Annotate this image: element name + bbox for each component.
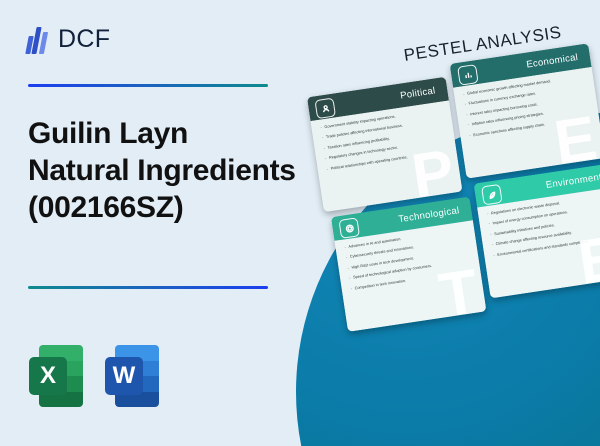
download-icons: X W — [29, 345, 159, 409]
bullet-list-technological: Advances in AI and automation. Cybersecu… — [344, 228, 471, 291]
card-body-political: Government stability impacting operation… — [310, 100, 462, 212]
pestel-card-technological[interactable]: Technological Advances in AI and automat… — [331, 196, 487, 331]
page-title: Guilin Layn Natural Ingredients (002166S… — [28, 116, 296, 227]
pestel-grid: Political Government stability impacting… — [305, 41, 600, 333]
brand-logo[interactable]: DCF — [27, 24, 110, 54]
card-title-political: Political — [399, 85, 436, 101]
bar-chart-logo-icon — [27, 24, 51, 54]
brand-name: DCF — [58, 25, 110, 54]
card-title-economical: Economical — [526, 51, 579, 70]
person-badge-icon — [314, 98, 336, 120]
card-body-economical: Global economic growth affecting market … — [453, 67, 600, 179]
gear-icon — [338, 217, 360, 239]
pestel-card-environment[interactable]: Environment Regulations on electronic wa… — [474, 163, 600, 298]
card-title-environment: Environment — [545, 171, 600, 190]
bar-chart-icon — [457, 64, 479, 86]
bullet-list-economical: Global economic growth affecting market … — [463, 75, 590, 138]
word-badge-letter: W — [105, 357, 143, 395]
leaf-icon — [481, 184, 503, 206]
divider-bottom — [28, 286, 268, 289]
divider-top — [28, 84, 268, 87]
pestel-card-economical[interactable]: Economical Global economic growth affect… — [450, 43, 600, 178]
word-document-icon[interactable]: W — [105, 345, 159, 409]
pestel-card-political[interactable]: Political Government stability impacting… — [307, 77, 463, 212]
excel-document-icon[interactable]: X — [29, 345, 83, 409]
card-title-technological: Technological — [398, 205, 460, 225]
slide-canvas: DCF Guilin Layn Natural Ingredients (002… — [0, 0, 600, 446]
excel-badge-letter: X — [29, 357, 67, 395]
bullet-list-environment: Regulations on electronic waste disposal… — [487, 195, 600, 258]
bullet-list-political: Government stability impacting operation… — [320, 109, 447, 172]
